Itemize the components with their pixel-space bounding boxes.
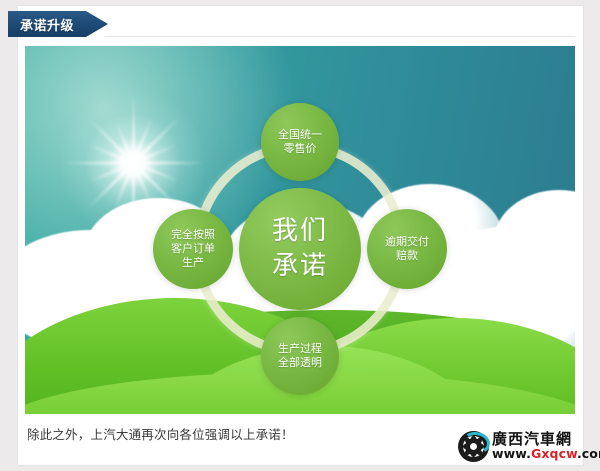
promise-circle-diagram: 我们 承诺 全国统一 零售价 逾期交付 赔款 生产过程 全部透明 完全按照 客户… bbox=[25, 46, 575, 414]
watermark-url-brand: Gxqcw bbox=[531, 446, 577, 461]
watermark-text: 廣西汽車網 www.Gxqcw.com bbox=[492, 432, 600, 461]
node-left-line-1: 完全按照 bbox=[171, 228, 215, 242]
node-right-line-2: 赔款 bbox=[396, 249, 418, 263]
watermark-url-prefix: www. bbox=[492, 446, 531, 461]
node-center-line-2: 承诺 bbox=[272, 249, 328, 284]
node-left-line-3: 生产 bbox=[182, 256, 204, 270]
promise-hero-image: 我们 承诺 全国统一 零售价 逾期交付 赔款 生产过程 全部透明 完全按照 客户… bbox=[25, 46, 575, 414]
caption-text: 除此之外，上汽大通再次向各位强调以上承诺！ bbox=[27, 424, 294, 443]
diagram-node-bottom: 生产过程 全部透明 bbox=[261, 317, 339, 395]
watermark-url: www.Gxqcw.com bbox=[492, 448, 600, 461]
diagram-node-left: 完全按照 客户订单 生产 bbox=[153, 209, 233, 289]
diagram-node-top: 全国统一 零售价 bbox=[261, 103, 339, 181]
node-bottom-line-1: 生产过程 bbox=[278, 342, 322, 356]
node-left-line-2: 客户订单 bbox=[171, 242, 215, 256]
watermark-site-name: 廣西汽車網 bbox=[492, 432, 600, 447]
watermark-url-suffix: .com bbox=[577, 446, 600, 461]
page-root: 承诺升级 bbox=[0, 0, 600, 471]
header-divider bbox=[105, 36, 575, 37]
node-top-line-2: 零售价 bbox=[284, 142, 317, 156]
node-bottom-line-2: 全部透明 bbox=[278, 356, 322, 370]
diagram-node-right: 逾期交付 赔款 bbox=[367, 209, 447, 289]
banner-title: 承诺升级 bbox=[20, 15, 74, 34]
tire-gear-logo-icon bbox=[458, 431, 489, 462]
site-watermark: 廣西汽車網 www.Gxqcw.com bbox=[458, 426, 598, 466]
diagram-node-center: 我们 承诺 bbox=[239, 188, 361, 310]
node-right-line-1: 逾期交付 bbox=[385, 235, 429, 249]
node-center-line-1: 我们 bbox=[272, 214, 328, 249]
node-top-line-1: 全国统一 bbox=[278, 128, 322, 142]
